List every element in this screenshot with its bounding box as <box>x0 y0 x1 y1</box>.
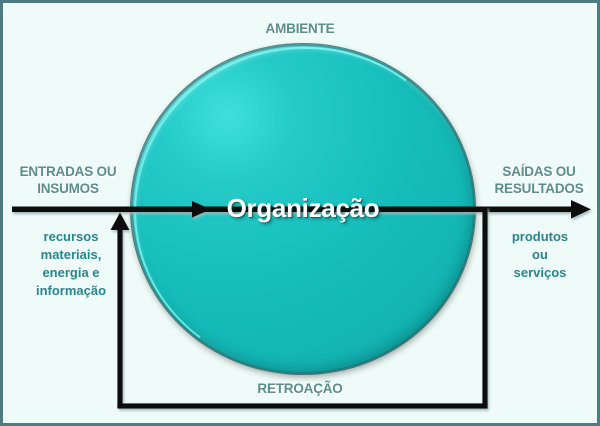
feedback-loop-arrow <box>111 207 488 409</box>
label-retroacao: RETROAÇÃO <box>200 380 400 397</box>
diagram-inner: AMBIENTE Organização <box>3 3 597 423</box>
label-saidas-ou-resultados: SAÍDAS OU RESULTADOS <box>481 163 597 197</box>
label-entradas-ou-insumos: ENTRADAS OU INSUMOS <box>7 163 129 197</box>
label-produtos-detail: produtos ou serviços <box>490 228 590 282</box>
diagram-canvas: AMBIENTE Organização <box>0 0 600 426</box>
label-organizacao: Organização <box>153 193 453 224</box>
label-ambiente: AMBIENTE <box>200 20 400 37</box>
label-recursos-detail: recursos materiais, energia e informação <box>21 228 121 300</box>
